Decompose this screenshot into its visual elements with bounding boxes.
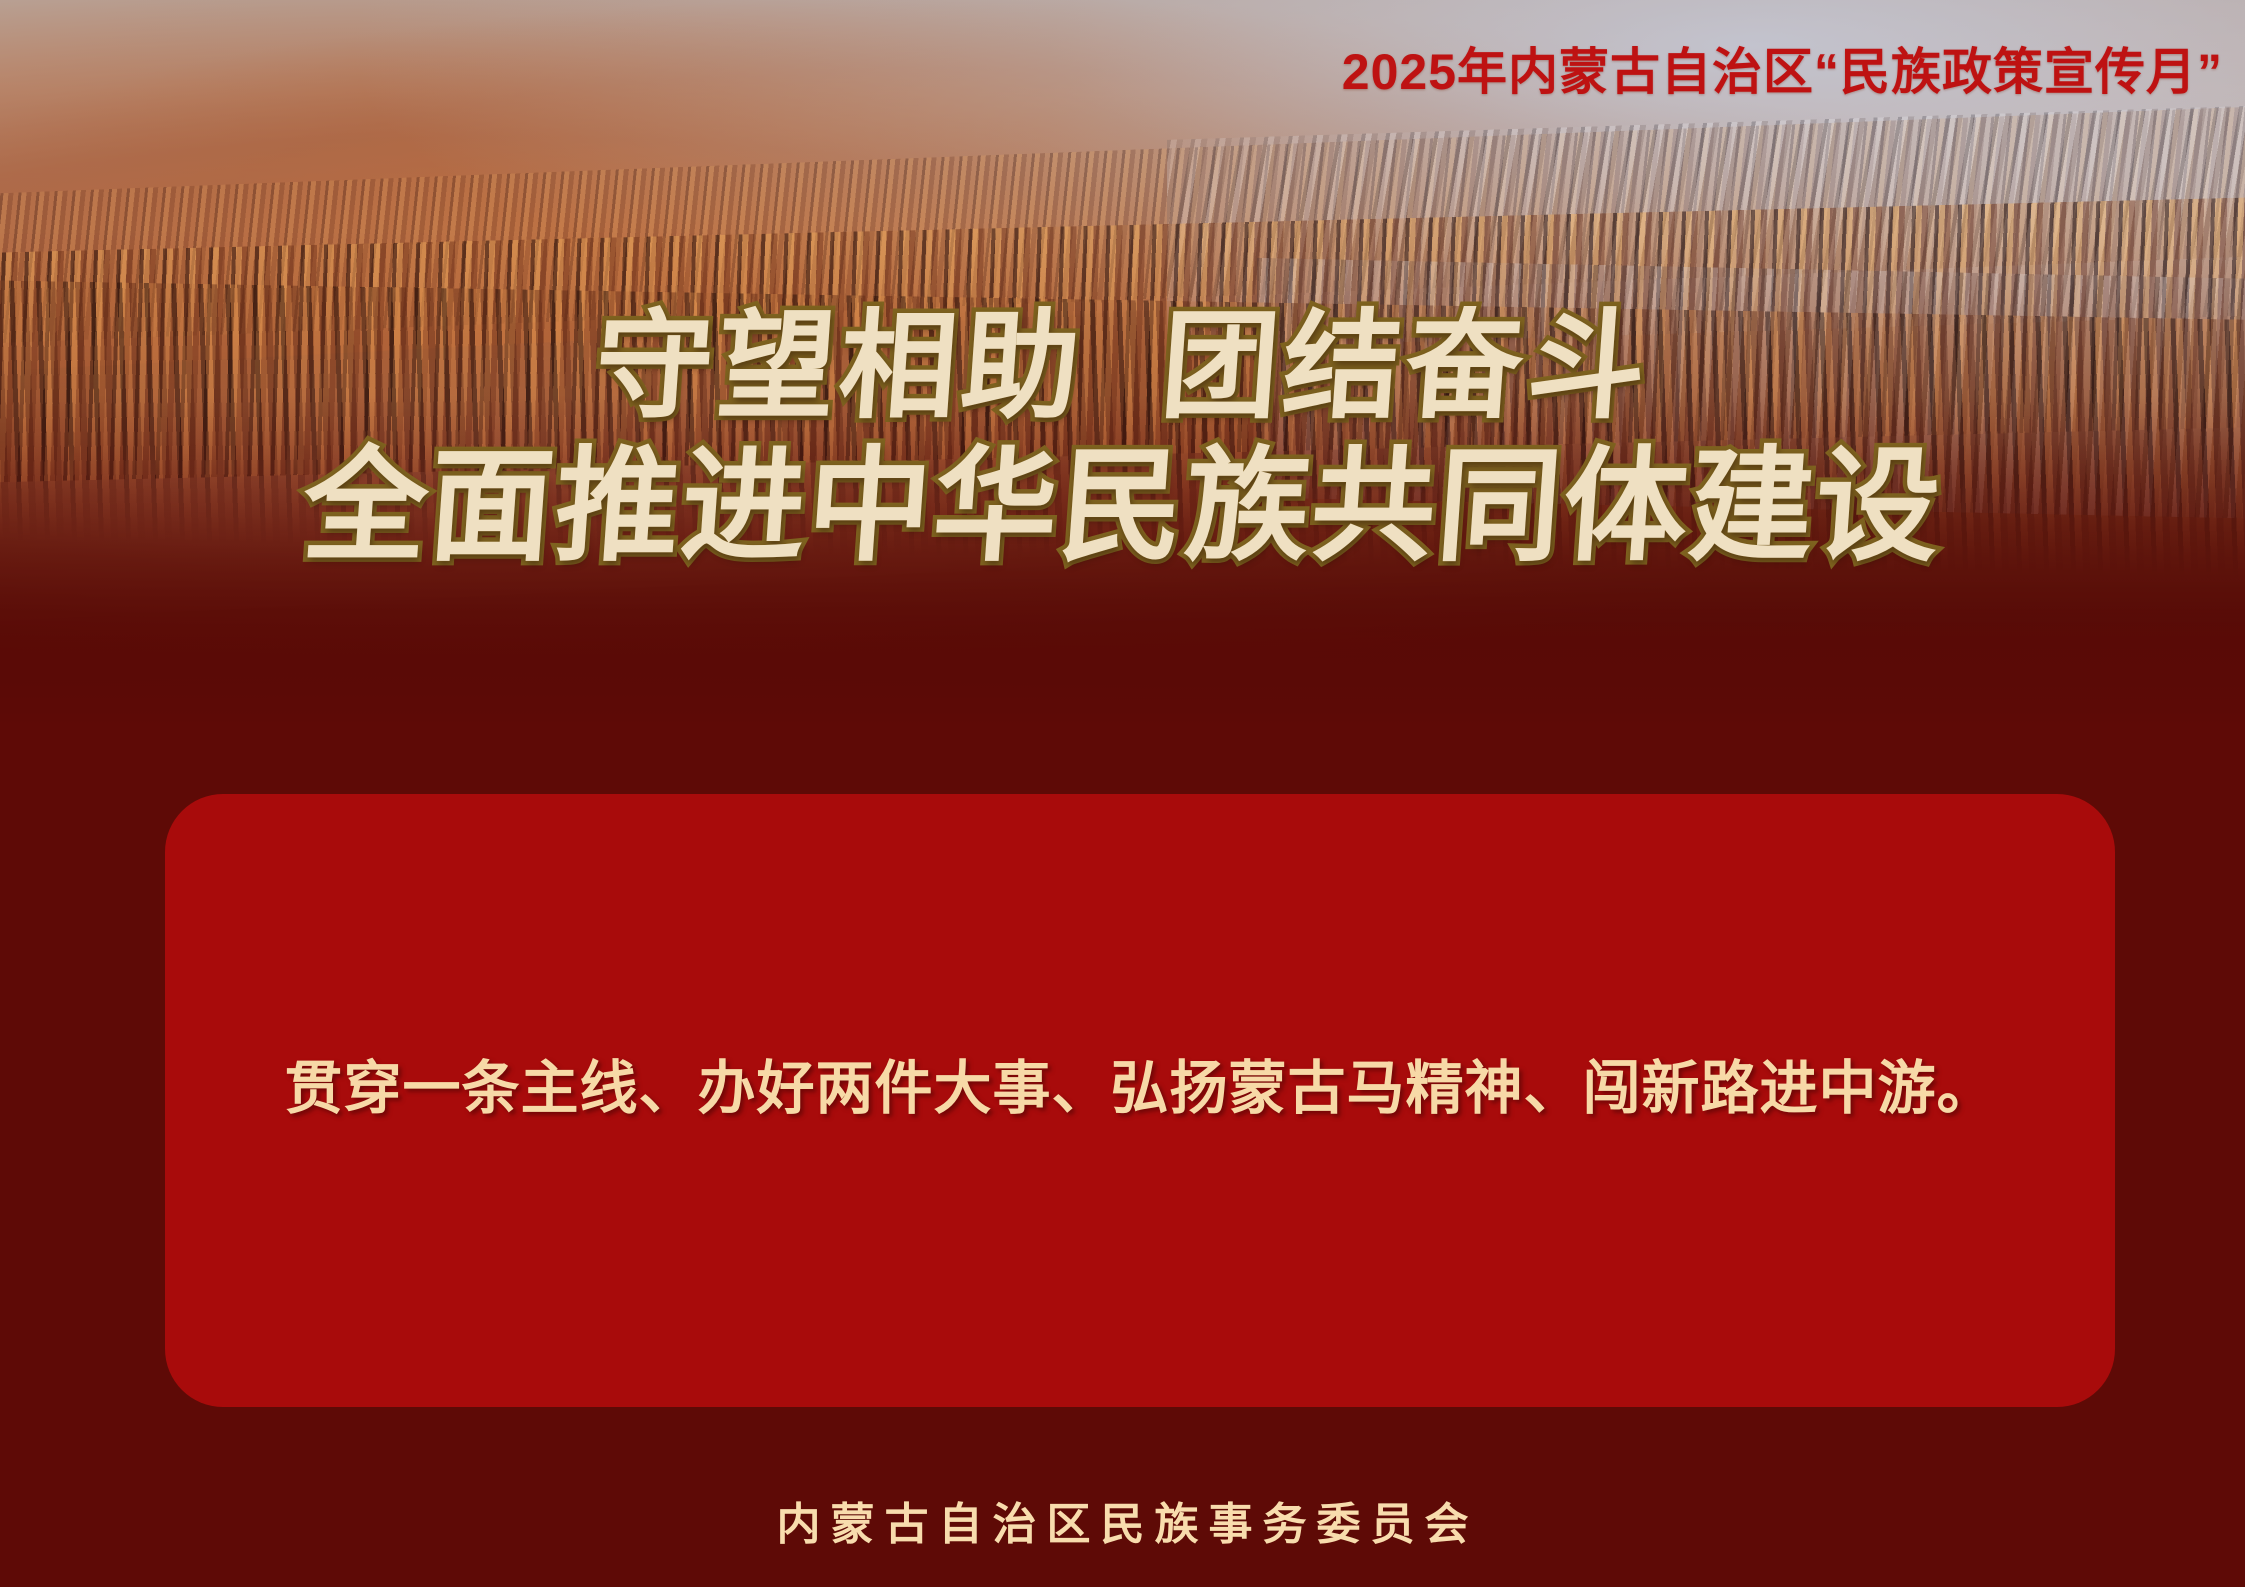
poster-canvas: 2025年内蒙古自治区“民族政策宣传月” 守望相助团结奋斗 全面推进中华民族共同…: [0, 0, 2245, 1587]
main-title-phrase-2: 团结奋斗: [1157, 296, 1655, 435]
footer-organization: 内蒙古自治区民族事务委员会: [0, 1488, 2245, 1552]
slogan-card: 贯穿一条主线、办好两件大事、弘扬蒙古马精神、闯新路进中游。: [165, 794, 2115, 1407]
campaign-header-title: 2025年内蒙古自治区“民族政策宣传月”: [1342, 32, 2223, 104]
main-title-line-2: 全面推进中华民族共同体建设: [0, 438, 2245, 577]
main-title-block: 守望相助团结奋斗 全面推进中华民族共同体建设: [0, 300, 2245, 577]
main-title-line-1: 守望相助团结奋斗: [0, 300, 2245, 432]
main-title-phrase-1: 守望相助: [591, 296, 1089, 435]
slogan-text: 贯穿一条主线、办好两件大事、弘扬蒙古马精神、闯新路进中游。: [284, 1041, 1995, 1125]
